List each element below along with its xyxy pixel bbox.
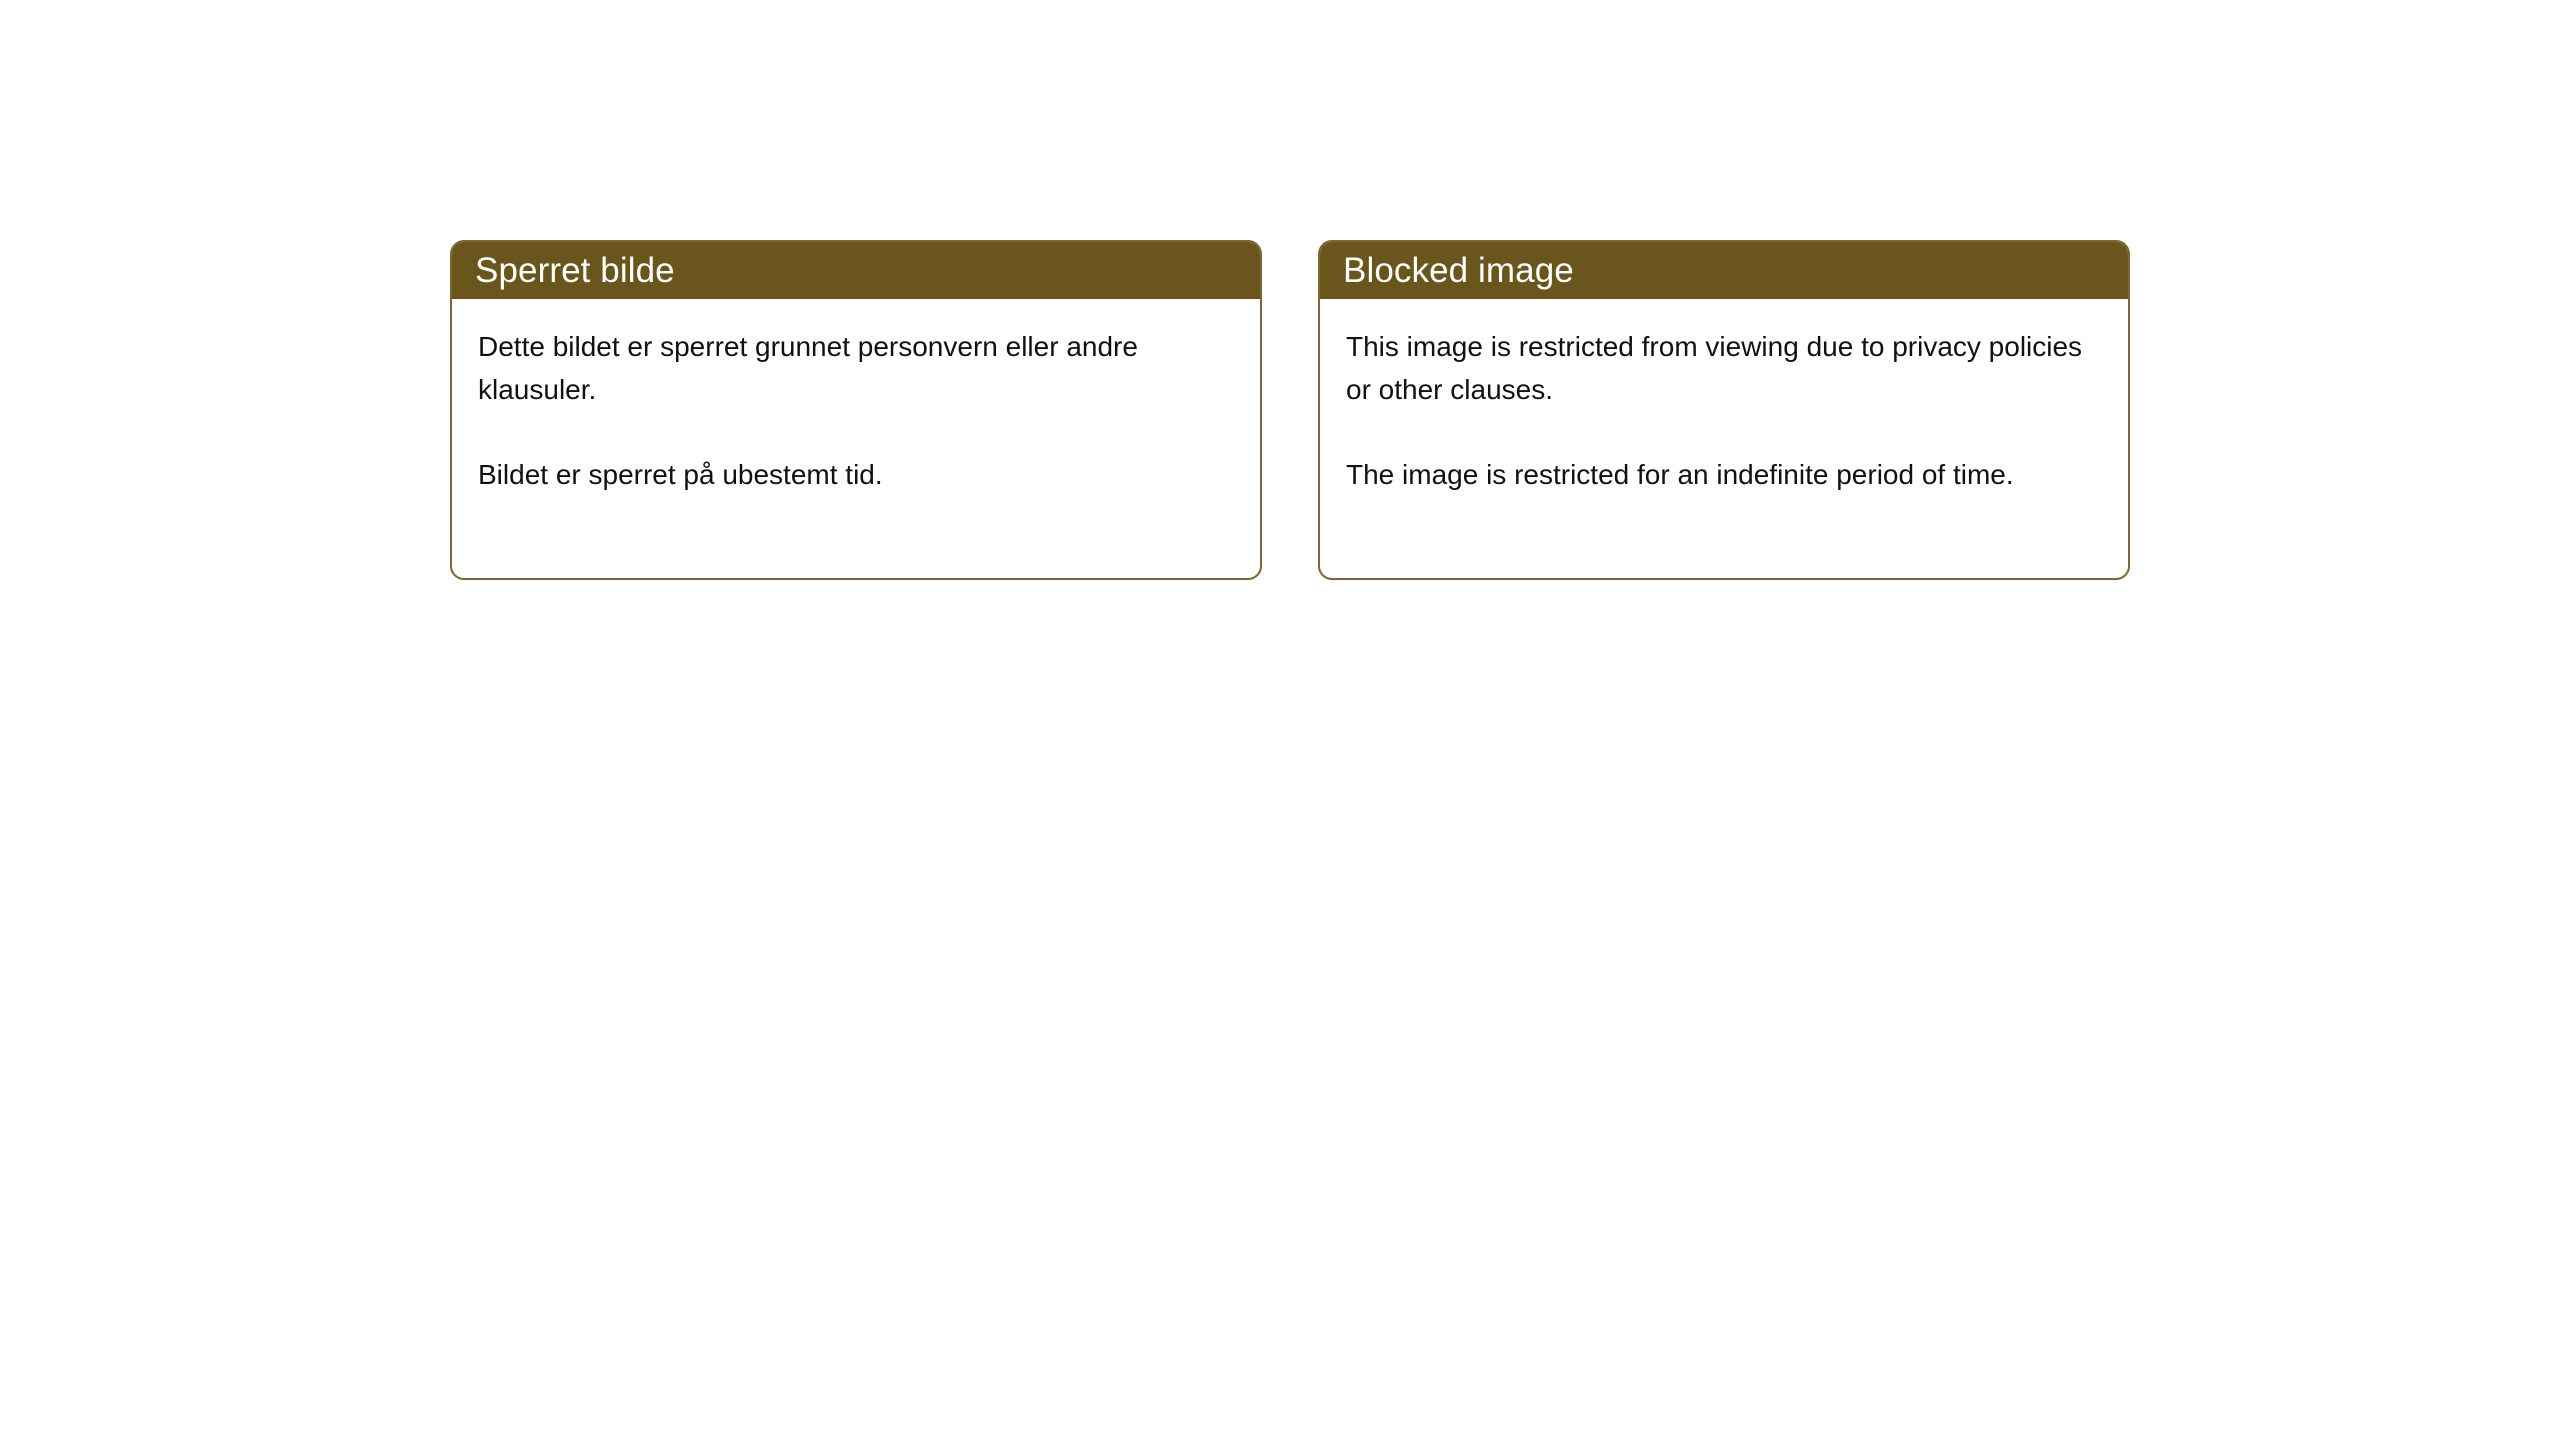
- card-paragraph-primary-english: This image is restricted from viewing du…: [1346, 325, 2100, 411]
- blocked-image-notice-group: Sperret bilde Dette bildet er sperret gr…: [450, 240, 2130, 580]
- card-body-english: This image is restricted from viewing du…: [1320, 299, 2128, 578]
- card-title-english: Blocked image: [1343, 253, 1574, 288]
- card-header-english: Blocked image: [1319, 241, 2129, 299]
- card-paragraph-secondary-english: The image is restricted for an indefinit…: [1346, 453, 2100, 496]
- card-title-norwegian: Sperret bilde: [475, 253, 675, 288]
- blocked-image-card-norwegian: Sperret bilde Dette bildet er sperret gr…: [450, 240, 1262, 580]
- card-body-norwegian: Dette bildet er sperret grunnet personve…: [452, 299, 1260, 578]
- card-header-norwegian: Sperret bilde: [451, 241, 1261, 299]
- blocked-image-card-english: Blocked image This image is restricted f…: [1318, 240, 2130, 580]
- card-paragraph-primary-norwegian: Dette bildet er sperret grunnet personve…: [478, 325, 1232, 411]
- card-paragraph-secondary-norwegian: Bildet er sperret på ubestemt tid.: [478, 453, 1232, 496]
